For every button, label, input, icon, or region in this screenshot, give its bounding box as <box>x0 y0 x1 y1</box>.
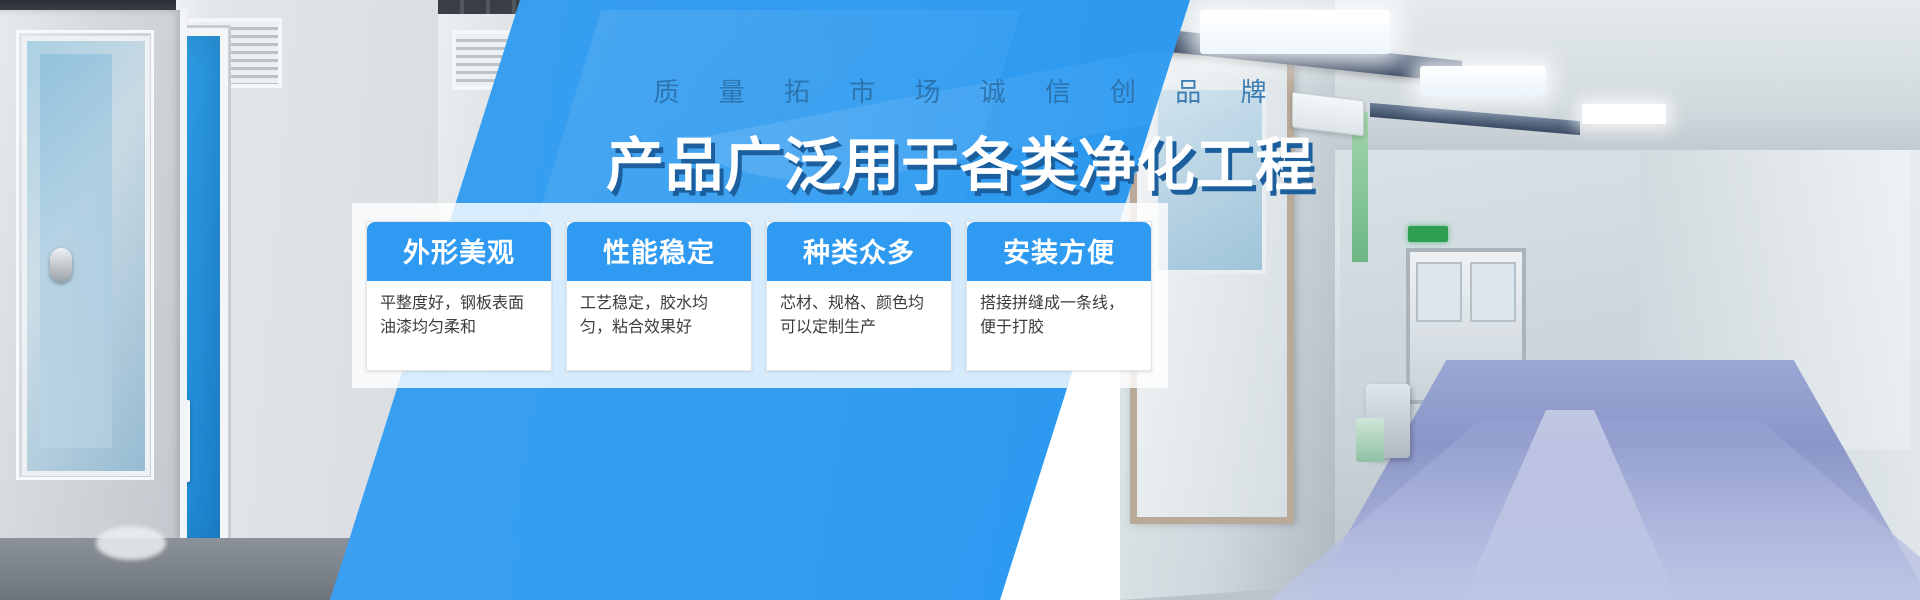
feature-card[interactable]: 种类众多 芯材、规格、颜色均可以定制生产 <box>766 221 952 371</box>
feature-card-text: 芯材、规格、颜色均可以定制生产 <box>767 281 951 354</box>
cabin-a-door-handle <box>50 248 72 282</box>
feature-card-text: 工艺稳定，胶水均匀，粘合效果好 <box>567 281 751 354</box>
corridor-equipment-bin <box>1356 418 1384 462</box>
feature-card-text: 搭接拼缝成一条线，便于打胶 <box>967 281 1151 354</box>
banner-tagline: 质 量 拓 市 场 诚 信 创 品 牌 <box>0 72 1920 109</box>
exit-sign <box>1408 226 1448 242</box>
feature-card-title: 外形美观 <box>367 222 551 281</box>
feature-card-text: 平整度好，钢板表面油漆均匀柔和 <box>367 281 551 354</box>
feature-card-title: 安装方便 <box>967 222 1151 281</box>
feature-card-title: 性能稳定 <box>567 222 751 281</box>
feature-card[interactable]: 外形美观 平整度好，钢板表面油漆均匀柔和 <box>366 221 552 371</box>
feature-card-list: 外形美观 平整度好，钢板表面油漆均匀柔和 性能稳定 工艺稳定，胶水均匀，粘合效果… <box>352 203 1168 388</box>
floor-highlight <box>96 526 166 560</box>
banner-headline: 产品广泛用于各类净化工程 <box>0 118 1920 202</box>
feature-card-title: 种类众多 <box>767 222 951 281</box>
feature-card[interactable]: 性能稳定 工艺稳定，胶水均匀，粘合效果好 <box>566 221 752 371</box>
ceiling-light-near <box>1200 10 1390 54</box>
feature-card[interactable]: 安装方便 搭接拼缝成一条线，便于打胶 <box>966 221 1152 371</box>
promo-banner: 质 量 拓 市 场 诚 信 创 品 牌 产品广泛用于各类净化工程 外形美观 平整… <box>0 0 1920 600</box>
cabin-a-glass-reflection <box>40 54 112 448</box>
